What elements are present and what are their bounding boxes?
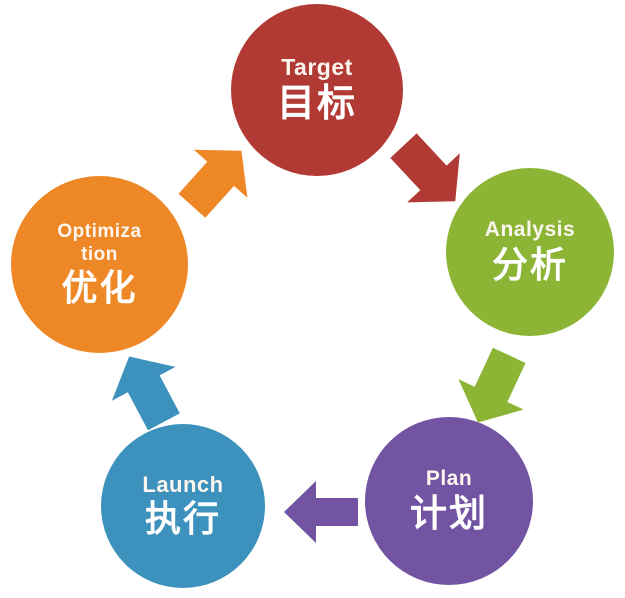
node-launch-label-zh: 执行	[145, 500, 221, 539]
arrow-optimization-to-target	[168, 136, 264, 227]
node-plan-label-zh: 计划	[410, 494, 488, 534]
arrow-shape	[168, 136, 264, 222]
node-plan-label-en: Plan	[426, 468, 472, 491]
node-launch-label-en: Launch	[142, 473, 223, 497]
node-target-label-zh: 目标	[277, 84, 357, 125]
node-target-label-en: Target	[281, 55, 353, 80]
arrow-plan-to-launch	[278, 476, 364, 553]
node-analysis-label-zh: 分析	[492, 246, 568, 285]
node-analysis-label-en: Analysis	[485, 219, 575, 242]
node-analysis[interactable]: Analysis 分析	[446, 168, 614, 336]
node-optimization[interactable]: Optimiza tion 优化	[11, 176, 188, 353]
node-launch[interactable]: Launch 执行	[101, 424, 265, 588]
arrow-shape	[284, 481, 358, 543]
node-optimization-label-en: Optimiza tion	[57, 221, 141, 266]
node-plan[interactable]: Plan 计划	[365, 417, 533, 585]
cycle-diagram: Target 目标 Analysis 分析 Plan 计划 Launch 执行 …	[0, 0, 625, 598]
arrow-shape	[99, 347, 195, 433]
node-target[interactable]: Target 目标	[231, 4, 403, 176]
node-optimization-label-zh: 优化	[61, 269, 137, 308]
